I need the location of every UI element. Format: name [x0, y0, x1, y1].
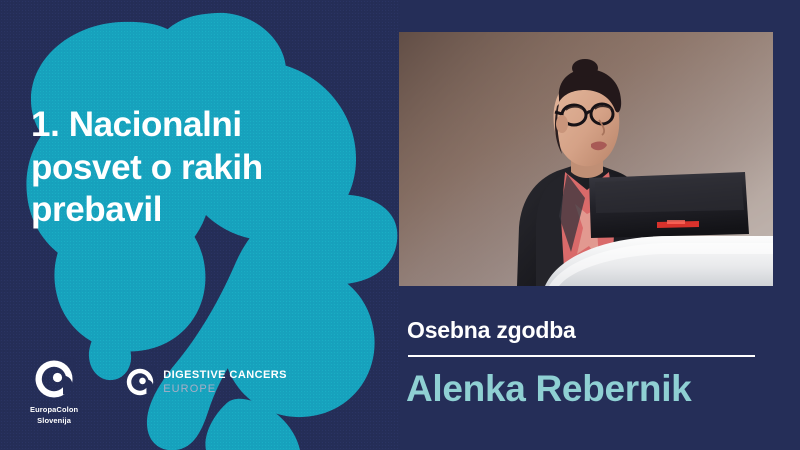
speaker-photo — [399, 32, 773, 286]
hair-bun — [572, 59, 598, 77]
ear — [556, 115, 568, 133]
caption-divider — [408, 355, 755, 357]
speaker-photo-illustration — [399, 32, 773, 286]
logo-row: EuropaColon Slovenija DIGESTIVE CANCERS … — [30, 358, 287, 427]
europacolon-slovenija-logo: EuropaColon Slovenija — [30, 358, 78, 427]
dce-logo-line-1: DIGESTIVE CANCERS — [163, 370, 287, 381]
europacolon-logo-mark-icon — [33, 358, 75, 400]
europacolon-logo-text: EuropaColon Slovenija — [30, 404, 78, 427]
caption-kicker: Osebna zgodba — [407, 317, 576, 344]
digestive-cancers-europe-logo-text: DIGESTIVE CANCERS EUROPE — [163, 370, 287, 395]
monitor-red-glow — [667, 220, 685, 224]
digestive-cancers-europe-logo-mark-icon — [125, 367, 155, 397]
digestive-cancers-europe-logo: DIGESTIVE CANCERS EUROPE — [125, 358, 287, 397]
dce-logo-line-2: EUROPE — [163, 384, 287, 395]
presentation-slide: 1. Nacionalni posvet o rakih prebavil Eu… — [0, 0, 800, 450]
slide-headline: 1. Nacionalni posvet o rakih prebavil — [31, 104, 361, 232]
monitor-screen-sheen — [595, 177, 744, 213]
speaker-name: Alenka Rebernik — [406, 369, 691, 410]
